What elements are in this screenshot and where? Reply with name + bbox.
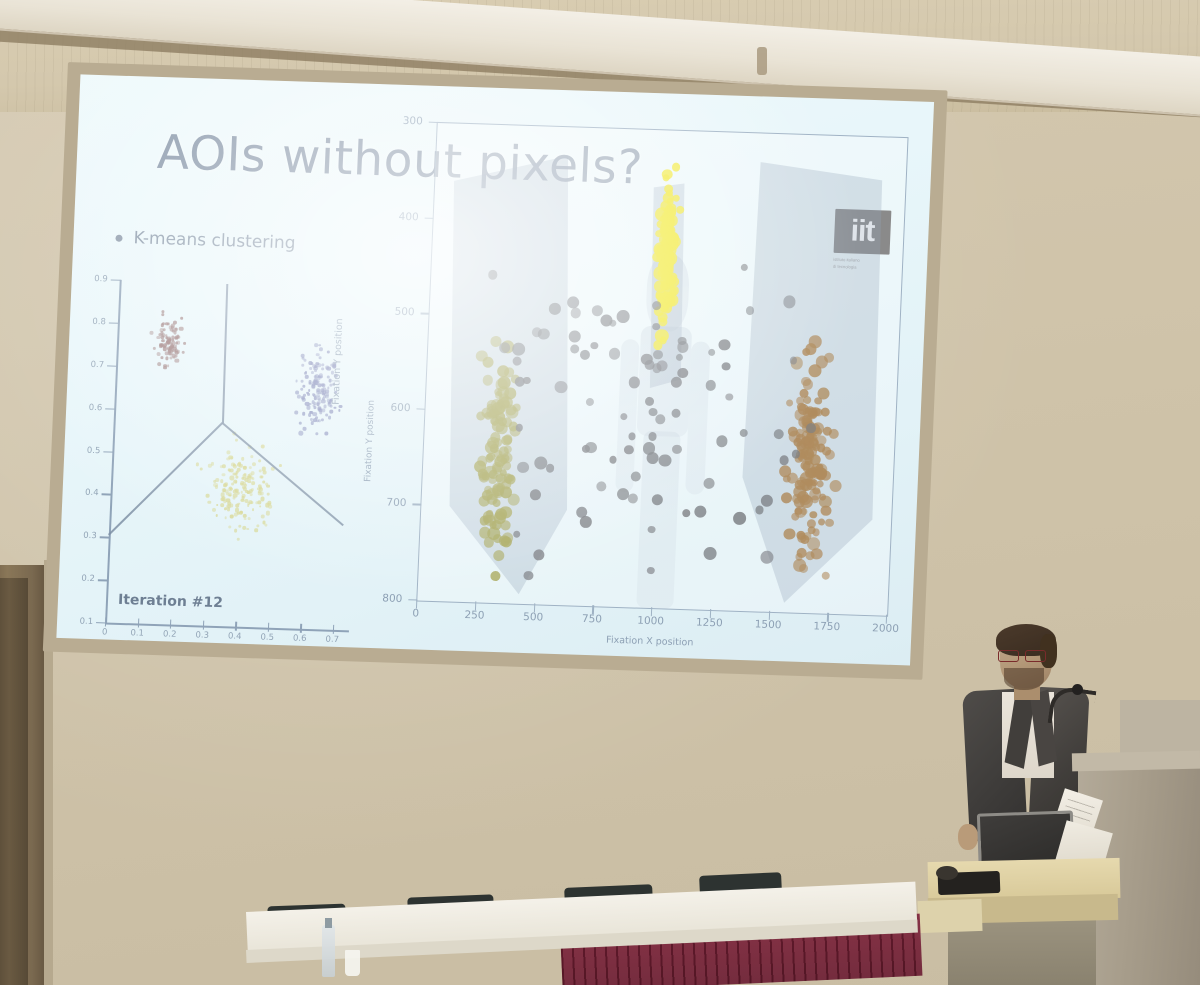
kmeans-point xyxy=(230,456,233,459)
bullet-item: K-means clustering xyxy=(115,228,296,254)
fixation-x-tick-label: 0 xyxy=(412,607,419,619)
fixation-point xyxy=(490,571,500,581)
kmeans-point xyxy=(224,482,229,486)
kmeans-point xyxy=(251,488,254,491)
presenter-hand xyxy=(958,824,978,850)
kmeans-point xyxy=(246,491,249,494)
glasses-lens-left xyxy=(998,650,1019,662)
kmeans-point xyxy=(220,503,224,507)
fixation-point xyxy=(797,533,807,543)
fixation-point xyxy=(815,435,826,446)
ceiling-beam-fixture xyxy=(757,47,767,75)
kmeans-y-tick-text: 0.6 xyxy=(89,402,103,412)
fixation-point xyxy=(773,429,783,439)
kmeans-y-tick xyxy=(109,322,119,324)
kmeans-y-tick-label: 0.9 xyxy=(86,279,108,280)
kmeans-x-tick-label: 0.1 xyxy=(130,628,144,638)
kmeans-point xyxy=(230,514,234,518)
fixation-point xyxy=(745,306,754,315)
kmeans-point xyxy=(244,484,247,487)
kmeans-point xyxy=(206,494,209,497)
fixation-point xyxy=(649,408,658,416)
kmeans-point xyxy=(235,438,238,441)
fixation-point xyxy=(580,516,592,528)
fixation-x-ticks: 025050075010001250150017502000 xyxy=(379,106,934,124)
kmeans-point xyxy=(317,407,321,411)
kmeans-point xyxy=(315,432,318,435)
kmeans-point xyxy=(320,388,324,392)
kmeans-point xyxy=(262,467,266,471)
fixation-point xyxy=(816,463,824,471)
fixation-y-tick xyxy=(412,504,421,506)
kmeans-point xyxy=(173,328,177,332)
fixation-point xyxy=(811,548,823,560)
kmeans-point xyxy=(224,507,227,510)
fixation-point xyxy=(821,571,830,580)
fixation-point xyxy=(648,432,657,441)
fixation-x-tick-label: 250 xyxy=(464,609,485,622)
fixation-point xyxy=(512,356,522,366)
fixation-point xyxy=(806,423,816,433)
fixation-point xyxy=(694,506,707,519)
fixation-y-tick-label: 800 xyxy=(358,592,402,605)
kmeans-point xyxy=(229,486,232,489)
water-bottle-cap xyxy=(325,918,332,928)
fixation-aoi-plot: 300400500600700800 025050075010001250150… xyxy=(356,106,934,665)
kmeans-x-tick-label: 0.4 xyxy=(228,631,242,641)
kmeans-x-tick xyxy=(202,621,204,630)
fixation-point xyxy=(570,344,579,353)
fixation-point xyxy=(665,232,676,243)
kmeans-point xyxy=(306,405,310,409)
fixation-point xyxy=(806,519,815,528)
kmeans-point xyxy=(264,523,267,526)
fixation-point xyxy=(665,204,673,212)
fixation-x-tick-label: 1500 xyxy=(754,618,781,631)
fixation-point xyxy=(579,349,590,360)
kmeans-point xyxy=(325,395,329,399)
fixation-plot-frame xyxy=(416,122,908,617)
kmeans-y-tick xyxy=(98,579,108,581)
fixation-y-tick-label: 300 xyxy=(379,114,423,127)
fixation-point xyxy=(682,509,690,517)
kmeans-x-tick-label: 0.6 xyxy=(293,634,307,644)
fixation-x-tick-label: 1250 xyxy=(696,617,723,630)
fixation-point xyxy=(533,549,545,560)
kmeans-point xyxy=(246,528,249,531)
fixation-y-tick xyxy=(425,217,434,219)
side-desk-surface xyxy=(917,899,982,933)
kmeans-point xyxy=(242,526,246,530)
kmeans-y-tick-text: 0.1 xyxy=(79,617,93,627)
kmeans-x-tick xyxy=(300,624,302,633)
fixation-y-tick-label: 700 xyxy=(362,496,406,509)
kmeans-point xyxy=(236,470,239,473)
kmeans-point xyxy=(165,357,169,361)
kmeans-point xyxy=(180,317,183,320)
kmeans-point xyxy=(301,380,304,383)
kmeans-point xyxy=(299,431,304,436)
fixation-point xyxy=(488,270,498,280)
kmeans-point xyxy=(260,492,264,496)
presenter-beard xyxy=(1004,668,1044,690)
kmeans-point xyxy=(316,388,320,392)
fixation-point xyxy=(567,296,580,309)
kmeans-point xyxy=(175,358,180,363)
kmeans-point xyxy=(265,482,268,485)
kmeans-x-tick xyxy=(137,619,139,628)
kmeans-y-tick xyxy=(111,279,121,281)
kmeans-point xyxy=(254,528,257,531)
fixation-point xyxy=(779,456,789,466)
fixation-y-tick-label: 600 xyxy=(366,401,410,414)
kmeans-x-tick-label: 0 xyxy=(102,627,108,637)
kmeans-point xyxy=(301,364,304,367)
aoi-polygons xyxy=(438,123,908,138)
drinking-cup xyxy=(345,950,360,976)
kmeans-y-tick xyxy=(102,494,112,496)
fixation-y-tick xyxy=(429,122,438,124)
glasses-lens-right xyxy=(1025,650,1046,662)
kmeans-y-tick-text: 0.4 xyxy=(85,488,99,498)
kmeans-point xyxy=(172,356,175,359)
kmeans-x-tick-label: 0.7 xyxy=(325,635,339,645)
kmeans-point xyxy=(316,380,320,384)
bullet-dot-icon xyxy=(115,234,122,241)
fixation-point xyxy=(804,407,811,414)
fixation-point xyxy=(568,330,580,342)
kmeans-point xyxy=(252,462,256,466)
fixation-point xyxy=(812,529,819,536)
fixation-point xyxy=(663,174,670,181)
kmeans-point xyxy=(297,394,301,398)
fixation-y-tick xyxy=(421,313,430,315)
fixation-point xyxy=(703,478,715,490)
fixation-point xyxy=(644,360,654,370)
kmeans-point xyxy=(305,401,309,405)
kmeans-y-tick xyxy=(107,365,117,367)
kmeans-y-tick-text: 0.8 xyxy=(92,317,106,327)
kmeans-point xyxy=(305,375,309,378)
fixation-point xyxy=(708,349,716,357)
kmeans-point xyxy=(314,365,318,369)
fixation-point xyxy=(617,488,630,500)
kmeans-y-tick xyxy=(103,451,113,453)
fixation-point xyxy=(523,377,531,385)
fixation-point xyxy=(791,450,800,459)
fixation-point xyxy=(653,266,667,280)
kmeans-point xyxy=(230,476,235,480)
kmeans-point xyxy=(226,498,230,502)
fixation-point xyxy=(796,547,806,557)
kmeans-point xyxy=(212,507,216,511)
kmeans-point xyxy=(261,515,265,519)
fixation-point xyxy=(490,444,499,453)
fixation-point xyxy=(760,550,773,563)
fixation-point xyxy=(570,308,581,319)
kmeans-point xyxy=(247,479,251,483)
kmeans-y-tick-text: 0.7 xyxy=(90,360,104,370)
fixation-x-tick-label: 2000 xyxy=(872,622,899,635)
fixation-x-tick-label: 500 xyxy=(523,611,544,624)
kmeans-point xyxy=(249,493,252,496)
kmeans-y-tick-text: 0.3 xyxy=(83,531,97,541)
fixation-point xyxy=(608,348,620,359)
fixation-point xyxy=(627,493,637,503)
kmeans-x-ticks: 00.10.20.30.40.50.60.7 xyxy=(86,271,366,280)
kmeans-y-tick xyxy=(105,408,115,410)
kmeans-point xyxy=(165,322,168,325)
projected-slide: AOIs without pixels? K-means clustering … xyxy=(56,74,934,665)
fixation-point xyxy=(703,547,716,560)
kmeans-point xyxy=(314,406,317,409)
fixation-point xyxy=(656,360,668,371)
kmeans-y-tick xyxy=(100,536,110,538)
projection-screen: AOIs without pixels? K-means clustering … xyxy=(43,62,948,680)
kmeans-point xyxy=(228,493,231,496)
kmeans-point xyxy=(221,497,225,501)
kmeans-y-tick-text: 0.9 xyxy=(94,274,108,284)
kmeans-x-tick xyxy=(333,625,335,634)
kmeans-point xyxy=(240,511,243,514)
fixation-point xyxy=(725,393,733,401)
kmeans-x-tick xyxy=(105,617,107,626)
kmeans-point xyxy=(299,421,302,424)
kmeans-y-tick-label: 0.4 xyxy=(77,493,99,494)
fixation-point xyxy=(476,350,488,362)
fixation-point xyxy=(795,434,805,444)
kmeans-point xyxy=(303,427,307,431)
kmeans-point xyxy=(310,367,313,370)
kmeans-point xyxy=(226,450,230,454)
fixation-data-points xyxy=(438,123,908,138)
fixation-point xyxy=(671,444,681,454)
door-panel xyxy=(0,578,28,985)
fixation-point xyxy=(822,447,831,456)
bullet-label: K-means clustering xyxy=(133,228,296,253)
kmeans-y-tick-text: 0.5 xyxy=(87,445,101,455)
kmeans-y-ticks: 0.10.20.30.40.50.60.70.80.9 xyxy=(86,271,366,280)
fixation-point xyxy=(671,376,683,387)
fixation-point xyxy=(716,436,728,448)
kmeans-point xyxy=(330,410,334,414)
screenshot-root: AOIs without pixels? K-means clustering … xyxy=(0,0,1200,985)
microphone-head-icon xyxy=(1072,684,1083,695)
fixation-point xyxy=(817,387,830,399)
kmeans-clustering-plot: 0.10.20.30.40.50.60.70.80.9 00.10.20.30.… xyxy=(70,271,366,652)
kmeans-x-tick xyxy=(170,620,172,629)
fixation-x-axis-label: Fixation X position xyxy=(606,635,694,649)
kmeans-y-tick-label: 0.7 xyxy=(82,364,104,365)
kmeans-point xyxy=(317,383,321,387)
kmeans-point xyxy=(318,344,321,347)
kmeans-y-tick-label: 0.5 xyxy=(78,450,100,451)
kmeans-point xyxy=(266,511,270,515)
fixation-point xyxy=(755,506,764,515)
podium-top-surface xyxy=(1072,751,1200,772)
fixation-point xyxy=(501,435,512,445)
kmeans-point xyxy=(250,455,253,458)
kmeans-point xyxy=(312,384,315,387)
kmeans-point xyxy=(242,473,246,477)
fixation-y-ticks: 300400500600700800 xyxy=(379,106,934,124)
kmeans-y-tick-text: 0.2 xyxy=(81,574,95,584)
fixation-point xyxy=(740,263,748,271)
kmeans-point xyxy=(313,412,317,416)
fixation-point xyxy=(705,380,716,391)
fixation-x-tick-label: 1000 xyxy=(637,615,664,628)
kmeans-point xyxy=(263,471,267,475)
computer-mouse[interactable] xyxy=(936,866,958,880)
kmeans-point xyxy=(256,524,259,527)
fixation-point xyxy=(503,473,513,483)
kmeans-point xyxy=(150,331,154,335)
fixation-point xyxy=(515,424,523,432)
fixation-point xyxy=(591,342,599,350)
fixation-point xyxy=(617,310,630,323)
fixation-point xyxy=(718,339,730,351)
kmeans-point xyxy=(161,356,164,359)
fixation-y-tick-label: 500 xyxy=(370,305,414,318)
kmeans-x-tick xyxy=(267,623,269,632)
kmeans-y-tick-label: 0.1 xyxy=(71,621,93,622)
kmeans-point xyxy=(243,487,247,491)
kmeans-iteration-label: Iteration #12 xyxy=(118,592,224,611)
kmeans-point xyxy=(156,352,160,356)
robot-photo-overlay xyxy=(438,123,908,138)
kmeans-point xyxy=(311,400,314,403)
fixation-point xyxy=(630,471,641,482)
kmeans-point xyxy=(242,466,246,470)
kmeans-point xyxy=(208,464,212,468)
fixation-point xyxy=(549,303,561,315)
kmeans-y-tick-label: 0.8 xyxy=(84,322,106,323)
robot-arm-right xyxy=(615,339,640,492)
kmeans-point xyxy=(327,387,330,390)
fixation-point xyxy=(672,162,681,171)
fixation-point xyxy=(585,441,597,453)
kmeans-x-tick-label: 0.3 xyxy=(195,630,209,640)
kmeans-x-tick-label: 0.5 xyxy=(260,632,274,642)
fixation-point xyxy=(596,481,606,491)
kmeans-point xyxy=(303,394,306,397)
fixation-y-tick-label: 400 xyxy=(374,210,418,223)
kmeans-point xyxy=(259,476,262,479)
kmeans-point xyxy=(167,349,171,353)
fixation-point xyxy=(523,571,533,581)
kmeans-y-tick-label: 0.3 xyxy=(75,536,97,537)
kmeans-point xyxy=(309,418,312,421)
glasses-icon xyxy=(998,650,1046,660)
kmeans-point xyxy=(324,431,328,435)
fixation-point xyxy=(722,362,731,371)
fixation-point xyxy=(592,305,603,316)
fixation-point xyxy=(802,379,813,390)
fixation-point xyxy=(825,518,834,527)
kmeans-point xyxy=(179,326,183,330)
kmeans-point xyxy=(317,401,320,404)
kmeans-y-tick-label: 0.2 xyxy=(73,579,95,580)
kmeans-x-tick-label: 0.2 xyxy=(163,629,177,639)
fixation-point xyxy=(785,399,793,407)
fixation-x-tick-label: 1750 xyxy=(813,620,840,633)
water-bottle xyxy=(322,925,335,977)
kmeans-point xyxy=(259,488,262,491)
fixation-point xyxy=(585,398,593,406)
fixation-y-tick xyxy=(416,408,425,410)
fixation-point xyxy=(810,511,818,519)
kmeans-point xyxy=(310,421,314,425)
fixation-point xyxy=(648,526,656,534)
fixation-point xyxy=(805,343,817,355)
kmeans-y-tick-label: 0.6 xyxy=(80,407,102,408)
kmeans-x-tick xyxy=(235,622,237,631)
fixation-point xyxy=(733,512,746,525)
fixation-x-tick-label: 750 xyxy=(582,613,603,626)
fixation-point xyxy=(817,518,824,525)
